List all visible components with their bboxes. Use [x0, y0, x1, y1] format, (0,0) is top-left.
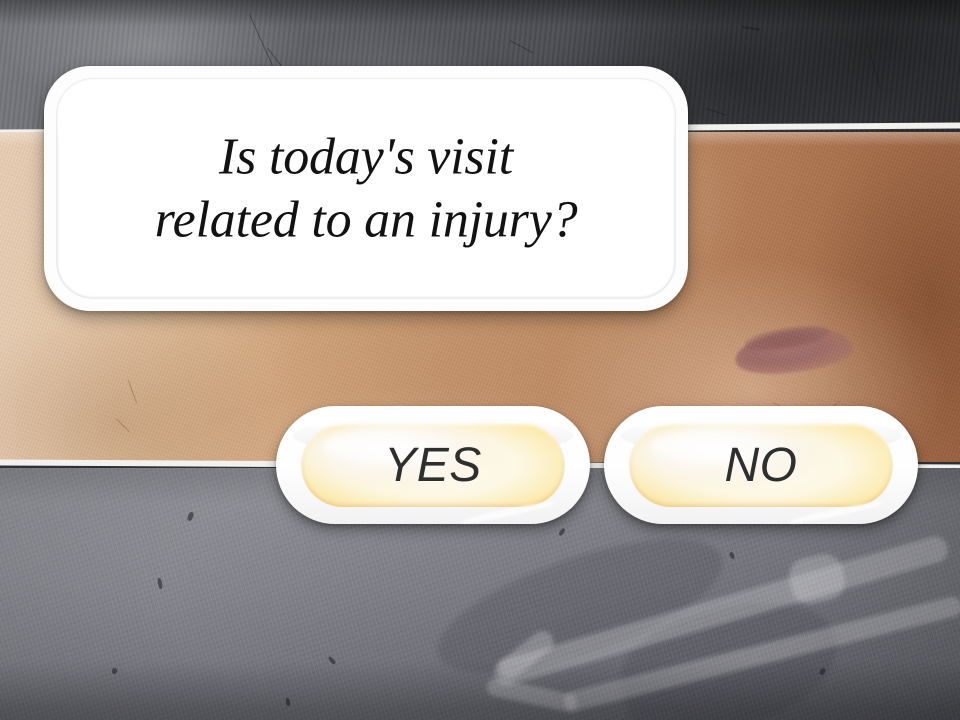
answer-button-row: YES NO: [276, 406, 918, 524]
answer-no-button[interactable]: NO: [604, 406, 918, 524]
kiosk-screen: Is today's visit related to an injury? Y…: [0, 0, 960, 720]
answer-yes-label: YES: [276, 406, 590, 524]
answer-yes-button[interactable]: YES: [276, 406, 590, 524]
question-text: Is today's visit related to an injury?: [44, 125, 688, 252]
question-card: Is today's visit related to an injury?: [44, 66, 688, 311]
answer-no-label: NO: [604, 406, 918, 524]
